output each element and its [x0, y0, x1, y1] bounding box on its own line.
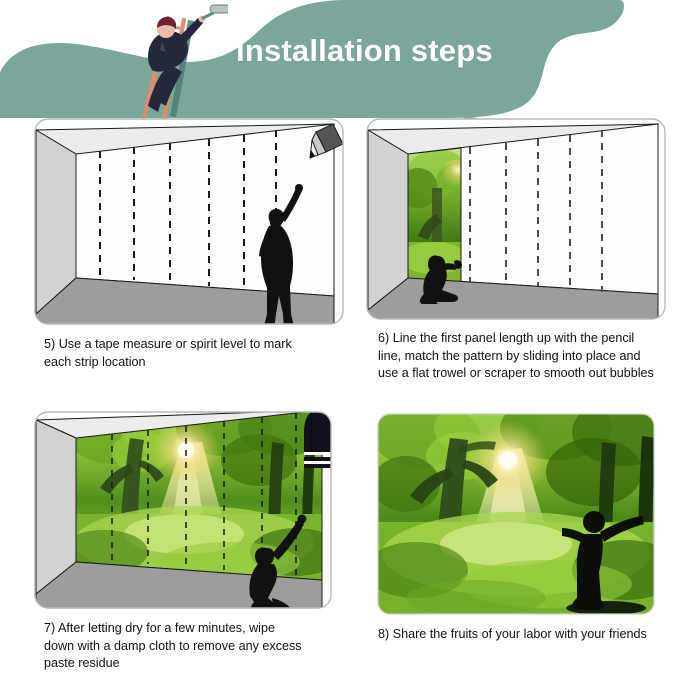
step-6-caption: 6) Line the first panel length up with t… [366, 330, 666, 383]
step-6-caption-line-1: 6) Line the first panel length up with t… [378, 330, 664, 348]
steps-grid: 5) Use a tape measure or spirit level to… [0, 112, 679, 687]
step-7-caption-line-2: down with a damp cloth to remove any exc… [44, 638, 342, 656]
step-7-figure [34, 402, 344, 620]
step-5-caption: 5) Use a tape measure or spirit level to… [34, 336, 344, 371]
room-first-panel-applied [366, 118, 666, 330]
paint-roller-head [210, 5, 228, 13]
step-6-caption-line-2: line, match the pattern by sliding into … [378, 348, 664, 366]
room-with-marked-strips [34, 118, 344, 336]
installation-steps-infographic: Installation steps [0, 0, 679, 687]
step-7-caption-line-3: paste residue [44, 655, 342, 673]
step-8: 8) Share the fruits of your labor with y… [366, 402, 666, 677]
header-banner: Installation steps [0, 0, 679, 118]
step-5-caption-line-2: each strip location [44, 354, 342, 372]
step-5-figure [34, 118, 344, 336]
step-7: 7) After letting dry for a few minutes, … [34, 402, 344, 687]
step-7-caption-line-1: 7) After letting dry for a few minutes, … [44, 620, 342, 638]
step-6-figure [366, 118, 666, 330]
finished-mural-photo [366, 402, 666, 626]
step-7-caption: 7) After letting dry for a few minutes, … [34, 620, 344, 673]
page-title: Installation steps [236, 33, 493, 69]
step-8-caption: 8) Share the fruits of your labor with y… [366, 626, 666, 644]
room-full-mural-wiping [34, 402, 344, 620]
main-wall [76, 124, 334, 296]
paint-roller-handle [203, 13, 213, 18]
step-6: 6) Line the first panel length up with t… [366, 118, 666, 408]
step-5-caption-line-1: 5) Use a tape measure or spirit level to… [44, 336, 342, 354]
step-5: 5) Use a tape measure or spirit level to… [34, 118, 344, 396]
painter-illustration [118, 2, 228, 120]
step-8-figure [366, 402, 666, 626]
step-6-caption-line-3: use a flat trowel or scraper to smooth o… [378, 365, 664, 383]
step-8-caption-line-1: 8) Share the fruits of your labor with y… [378, 626, 664, 644]
